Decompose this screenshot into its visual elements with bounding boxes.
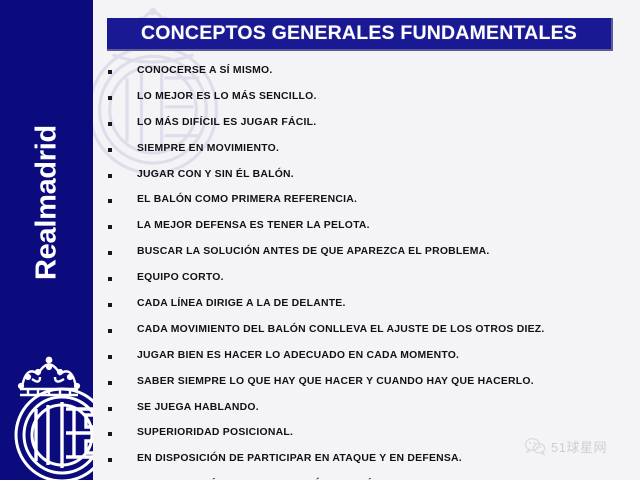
list-item: EN DISPOSICIÓN DE PARTICIPAR EN ATAQUE Y… xyxy=(108,452,628,478)
bullet-square-icon xyxy=(108,122,112,126)
page-title: CONCEPTOS GENERALES FUNDAMENTALES xyxy=(141,22,577,45)
list-item-label: SABER SIEMPRE LO QUE HAY QUE HACER Y CUA… xyxy=(137,375,534,389)
list-item-label: CONOCERSE A SÍ MISMO. xyxy=(137,64,273,78)
bullet-square-icon xyxy=(108,407,112,411)
list-item-label: SUPERIORIDAD POSICIONAL. xyxy=(137,426,293,440)
list-item: LO MEJOR ES LO MÁS SENCILLO. xyxy=(108,90,628,116)
bullet-square-icon xyxy=(108,458,112,462)
list-item: SE JUEGA HABLANDO. xyxy=(108,401,628,427)
list-item: EQUIPO CORTO. xyxy=(108,271,628,297)
list-item: CADA MOVIMIENTO DEL BALÓN CONLLEVA EL AJ… xyxy=(108,323,628,349)
brand-label: Realmadrid xyxy=(32,125,61,280)
list-item-label: LO MÁS DIFÍCIL ES JUGAR FÁCIL. xyxy=(137,116,316,130)
slide-title-band: CONCEPTOS GENERALES FUNDAMENTALES xyxy=(107,18,613,51)
bullet-list: CONOCERSE A SÍ MISMO. LO MEJOR ES LO MÁS… xyxy=(108,64,628,480)
bullet-square-icon xyxy=(108,199,112,203)
site-watermark: 51球星网 xyxy=(524,437,607,456)
list-item: JUGAR CON Y SIN ÉL BALÓN. xyxy=(108,168,628,194)
bullet-square-icon xyxy=(108,303,112,307)
bullet-square-icon xyxy=(108,355,112,359)
slide-canvas: Realmadrid xyxy=(0,0,640,480)
bullet-square-icon xyxy=(108,432,112,436)
site-watermark-label: 51球星网 xyxy=(551,437,607,456)
list-item-label: SE JUEGA HABLANDO. xyxy=(137,401,259,415)
list-item: SIEMPRE EN MOVIMIENTO. xyxy=(108,142,628,168)
real-madrid-crest-icon xyxy=(6,349,93,480)
list-item-label: EL BALÓN COMO PRIMERA REFERENCIA. xyxy=(137,193,357,207)
bullet-square-icon xyxy=(108,277,112,281)
list-item: CADA LÍNEA DIRIGE A LA DE DELANTE. xyxy=(108,297,628,323)
sidebar: Realmadrid xyxy=(0,0,93,480)
list-item-label: CADA LÍNEA DIRIGE A LA DE DELANTE. xyxy=(137,297,346,311)
list-item-label: CADA MOVIMIENTO DEL BALÓN CONLLEVA EL AJ… xyxy=(137,323,545,337)
list-item-label: LO MEJOR ES LO MÁS SENCILLO. xyxy=(137,90,317,104)
list-item-label: JUGAR BIEN ES HACER LO ADECUADO EN CADA … xyxy=(137,349,459,363)
bullet-square-icon xyxy=(108,70,112,74)
bullet-square-icon xyxy=(108,329,112,333)
bullet-square-icon xyxy=(108,148,112,152)
bullet-square-icon xyxy=(108,381,112,385)
wechat-bubble-icon xyxy=(524,437,546,456)
bullet-square-icon xyxy=(108,251,112,255)
list-item-label: LA MEJOR DEFENSA ES TENER LA PELOTA. xyxy=(137,219,370,233)
bullet-square-icon xyxy=(108,174,112,178)
list-item-label: EQUIPO CORTO. xyxy=(137,271,224,285)
list-item: BUSCAR LA SOLUCIÓN ANTES DE QUE APAREZCA… xyxy=(108,245,628,271)
list-item: LA MEJOR DEFENSA ES TENER LA PELOTA. xyxy=(108,219,628,245)
list-item-label: SIEMPRE EN MOVIMIENTO. xyxy=(137,142,279,156)
list-item: CONOCERSE A SÍ MISMO. xyxy=(108,64,628,90)
list-item: SABER SIEMPRE LO QUE HAY QUE HACER Y CUA… xyxy=(108,375,628,401)
list-item-label: BUSCAR LA SOLUCIÓN ANTES DE QUE APAREZCA… xyxy=(137,245,490,259)
list-item: JUGAR BIEN ES HACER LO ADECUADO EN CADA … xyxy=(108,349,628,375)
list-item: EL BALÓN COMO PRIMERA REFERENCIA. xyxy=(108,193,628,219)
list-item: LO MÁS DIFÍCIL ES JUGAR FÁCIL. xyxy=(108,116,628,142)
list-item-label: JUGAR CON Y SIN ÉL BALÓN. xyxy=(137,168,294,182)
bullet-square-icon xyxy=(108,225,112,229)
list-item-label: EN DISPOSICIÓN DE PARTICIPAR EN ATAQUE Y… xyxy=(137,452,462,466)
bullet-square-icon xyxy=(108,96,112,100)
